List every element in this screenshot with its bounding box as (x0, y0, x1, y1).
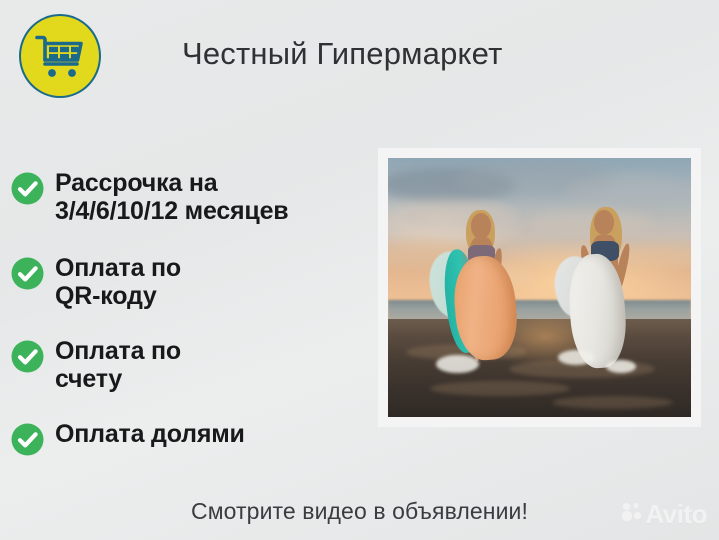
water-ripple (430, 381, 569, 397)
check-circle-icon (11, 172, 44, 205)
feature-item-label: Оплата по счету (55, 338, 181, 393)
avito-watermark: Avito (621, 499, 707, 530)
feature-item-label: Оплата по QR-коду (55, 255, 181, 310)
feature-item-split-payment: Оплата долями (11, 421, 245, 456)
sea-foam (558, 350, 594, 366)
poster-header: Честный Гипермаркет (0, 0, 719, 112)
cloud (564, 174, 691, 210)
avito-dots-icon (621, 502, 643, 527)
promo-poster: Честный Гипермаркет Рассрочка на 3/4/6/1… (0, 0, 719, 540)
video-cta-text: Смотрите видео в объявлении! (0, 498, 719, 525)
check-circle-icon (11, 423, 44, 456)
feature-item-label: Рассрочка на 3/4/6/10/12 месяцев (55, 170, 288, 225)
avito-wordmark: Avito (645, 499, 707, 530)
shopping-cart-icon (34, 33, 86, 79)
feature-item-label: Оплата долями (55, 421, 245, 449)
sea-foam (436, 355, 478, 373)
feature-item-qr-payment: Оплата по QR-коду (11, 255, 181, 310)
beach-surfers-photo (388, 158, 691, 417)
head (471, 213, 491, 239)
check-circle-icon (11, 340, 44, 373)
brand-title: Честный Гипермаркет (182, 36, 502, 72)
photo-frame (378, 148, 701, 427)
feature-item-installment: Рассрочка на 3/4/6/10/12 месяцев (11, 170, 288, 225)
feature-item-invoice-payment: Оплата по счету (11, 338, 181, 393)
head (594, 210, 614, 234)
store-logo-badge (19, 14, 101, 98)
check-circle-icon (11, 257, 44, 290)
